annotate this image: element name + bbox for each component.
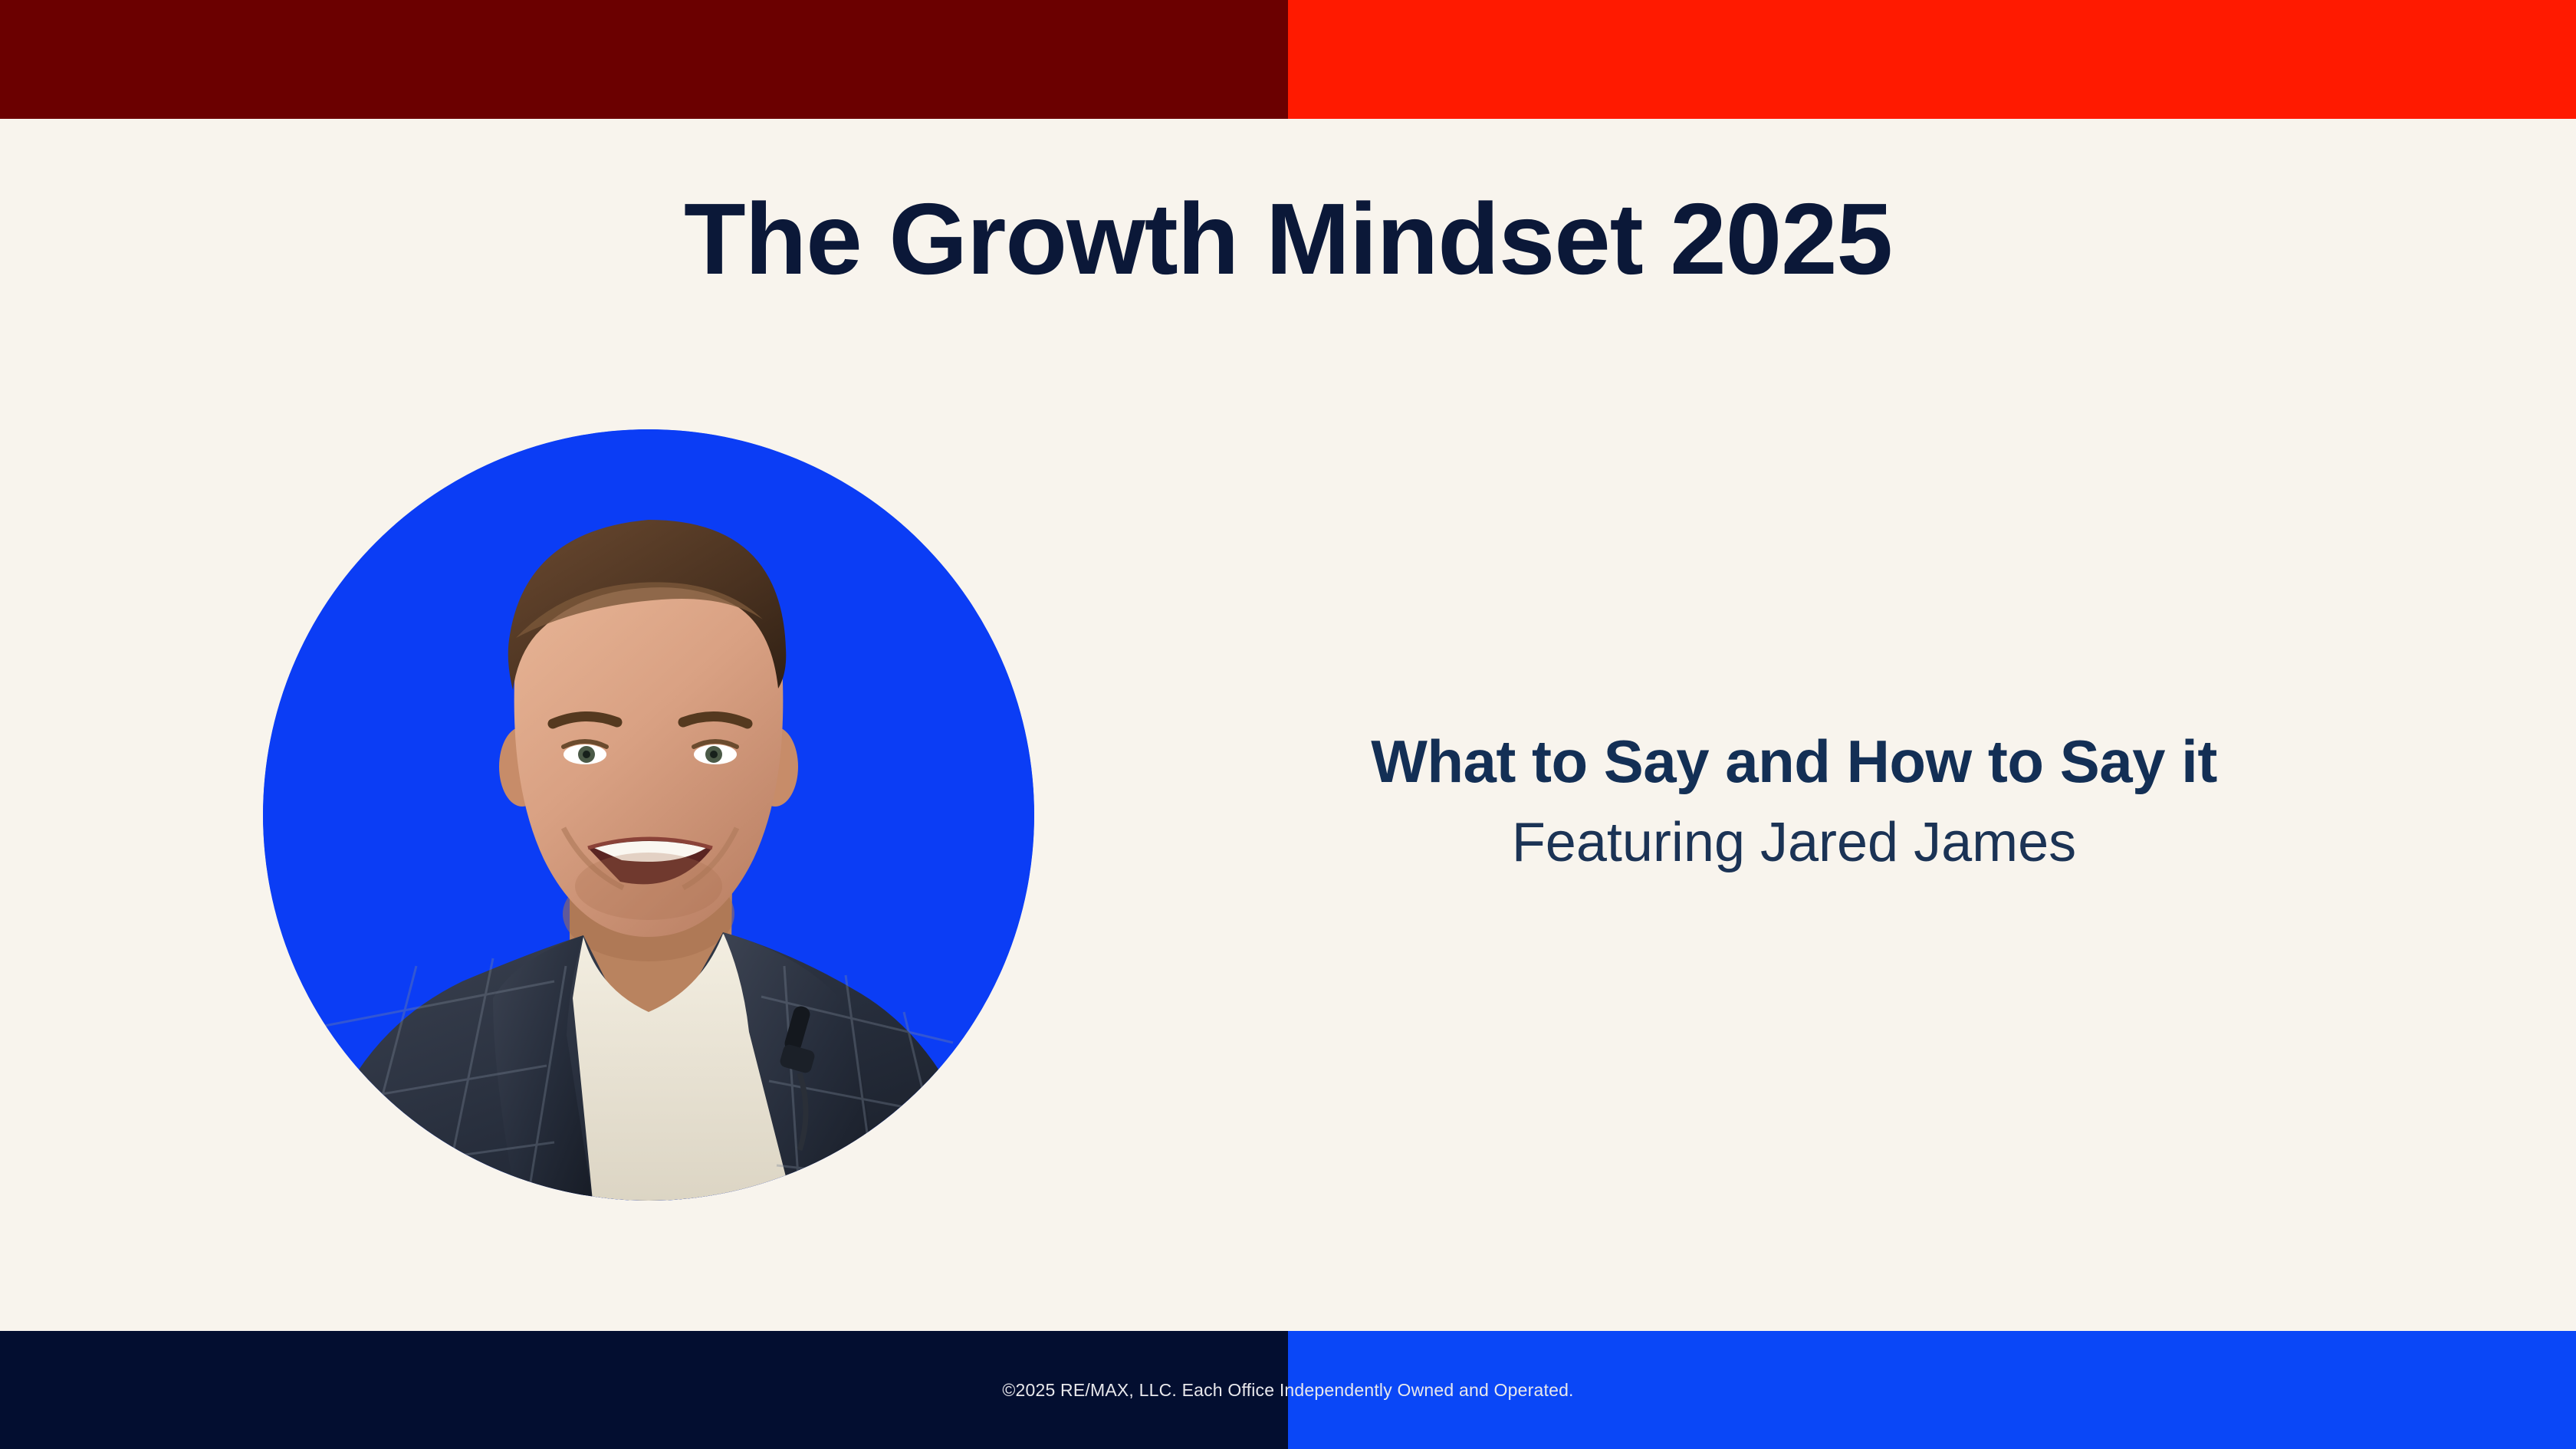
slide-headline: The Growth Mindset 2025: [0, 186, 2576, 293]
top-bar-dark-red-block: [0, 0, 1288, 119]
session-subhead: What to Say and How to Say it: [1073, 728, 2515, 795]
top-color-bar: [0, 0, 2576, 119]
session-featuring-speaker: Featuring Jared James: [1073, 812, 2515, 874]
presentation-slide: The Growth Mindset 2025: [0, 0, 2576, 1449]
speaker-portrait-circle: [263, 429, 1034, 1201]
footer-copyright-text: ©2025 RE/MAX, LLC. Each Office Independe…: [0, 1331, 2576, 1449]
speaker-portrait-image: [263, 429, 1034, 1201]
session-info-block: What to Say and How to Say it Featuring …: [1073, 728, 2515, 874]
slide-footer: ©2025 RE/MAX, LLC. Each Office Independe…: [0, 1331, 2576, 1449]
top-bar-bright-red-block: [1288, 0, 2576, 119]
